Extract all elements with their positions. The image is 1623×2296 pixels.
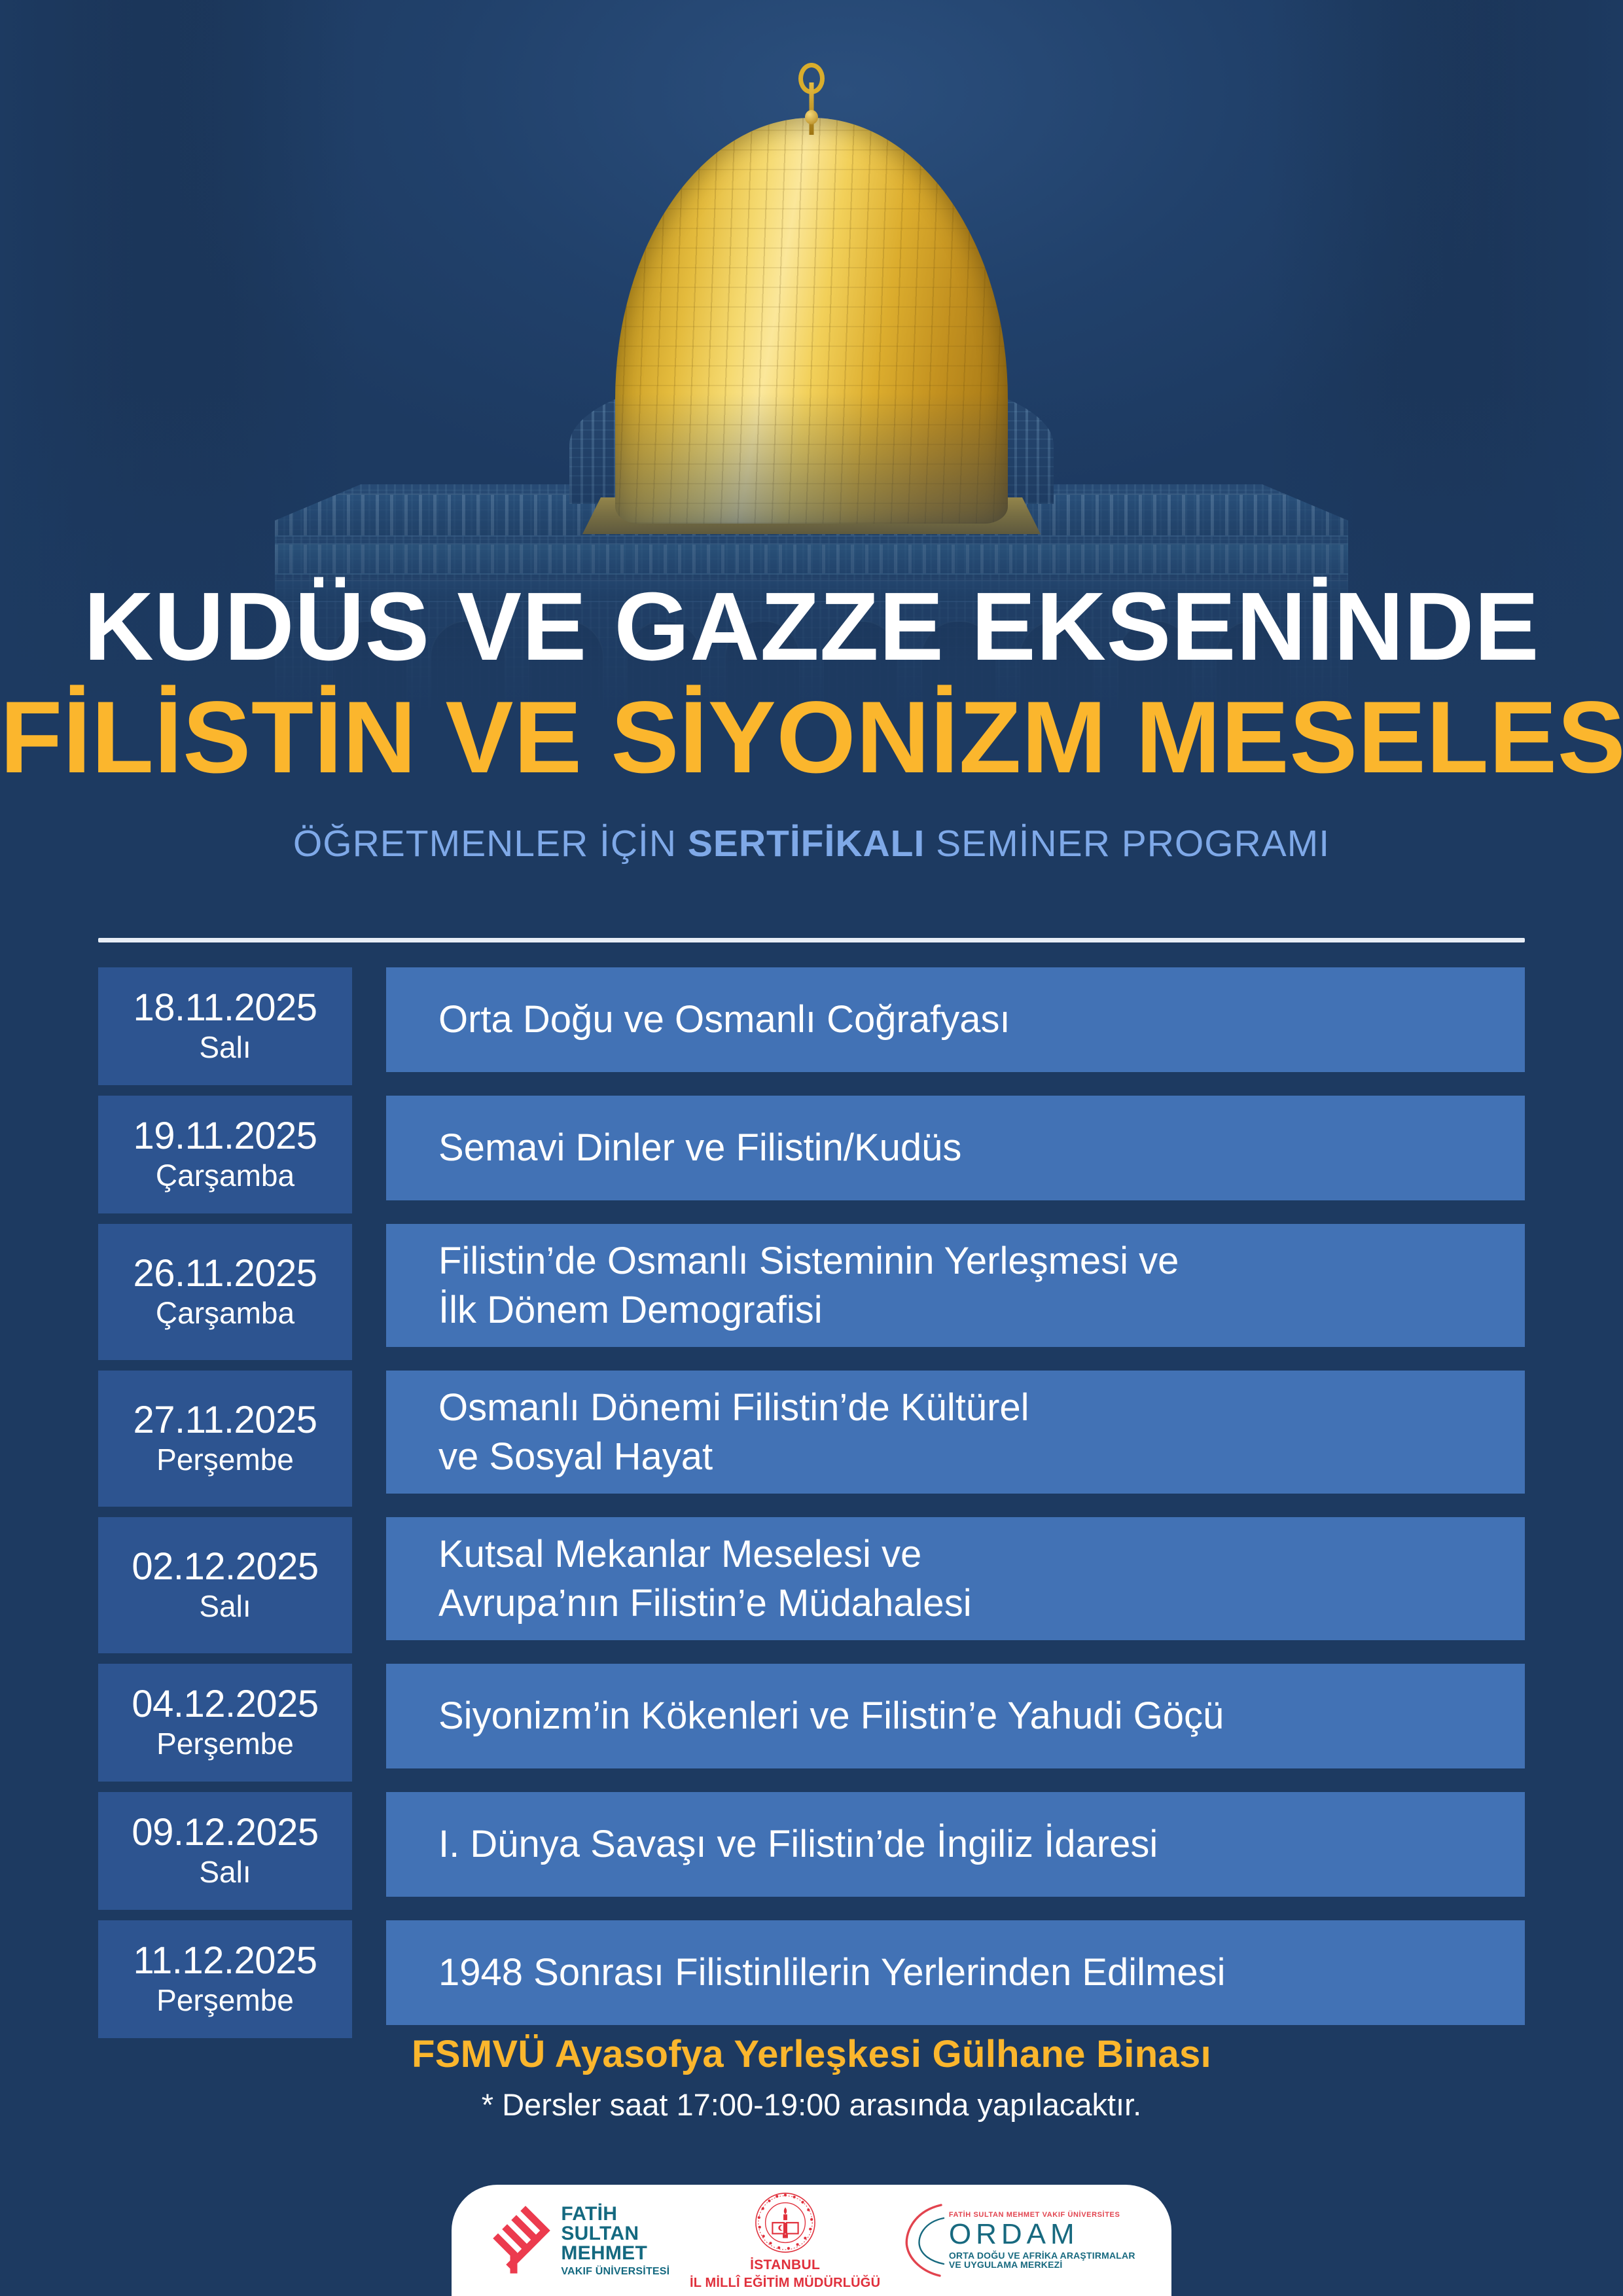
meb-line2: İL MİLLÎ EĞİTİM MÜDÜRLÜĞÜ xyxy=(690,2276,880,2291)
schedule-date-cell: 27.11.2025Perşembe xyxy=(98,1371,352,1507)
schedule-weekday: Çarşamba xyxy=(156,1158,294,1193)
ordam-wordmark: ORDAM xyxy=(949,2220,1079,2249)
fsmvu-line1: FATİH xyxy=(561,2204,669,2224)
schedule-row: 18.11.2025SalıOrta Doğu ve Osmanlı Coğra… xyxy=(98,967,1525,1085)
schedule-row: 27.11.2025PerşembeOsmanlı Dönemi Filisti… xyxy=(98,1371,1525,1507)
schedule-topic: I. Dünya Savaşı ve Filistin’de İngiliz İ… xyxy=(438,1820,1158,1869)
schedule-date: 11.12.2025 xyxy=(134,1940,317,1982)
logo-bar: FATİH SULTAN MEHMET VAKIF ÜNİVERSİTESİ xyxy=(452,2185,1171,2296)
poster-title-line2: FİLİSTİN VE SİYONİZM MESELESİ xyxy=(0,684,1623,792)
seminar-poster: KUDÜS VE GAZZE EKSENİNDE FİLİSTİN VE SİY… xyxy=(0,0,1623,2296)
schedule-date-cell: 09.12.2025Salı xyxy=(98,1792,352,1910)
schedule-date-cell: 18.11.2025Salı xyxy=(98,967,352,1085)
schedule-topic: 1948 Sonrası Filistinlilerin Yerlerinden… xyxy=(438,1948,1226,1997)
schedule-table: 18.11.2025SalıOrta Doğu ve Osmanlı Coğra… xyxy=(98,967,1525,2049)
schedule-weekday: Salı xyxy=(199,1588,251,1624)
ordam-logo-text: FATİH SULTAN MEHMET VAKIF ÜNİVERSİTES OR… xyxy=(949,2212,1135,2269)
schedule-topic: Kutsal Mekanlar Meselesi veAvrupa’nın Fi… xyxy=(438,1530,972,1628)
fsmvu-logo: FATİH SULTAN MEHMET VAKIF ÜNİVERSİTESİ xyxy=(488,2204,669,2277)
schedule-topic: Osmanlı Dönemi Filistin’de Kültürelve So… xyxy=(438,1383,1029,1482)
schedule-weekday: Çarşamba xyxy=(156,1295,294,1331)
schedule-row: 04.12.2025PerşembeSiyonizm’in Kökenleri … xyxy=(98,1664,1525,1782)
schedule-date-cell: 26.11.2025Çarşamba xyxy=(98,1224,352,1360)
schedule-date: 27.11.2025 xyxy=(134,1399,317,1442)
schedule-weekday: Salı xyxy=(199,1854,251,1890)
schedule-date: 02.12.2025 xyxy=(132,1546,318,1588)
schedule-topic: Siyonizm’in Kökenleri ve Filistin’e Yahu… xyxy=(438,1691,1224,1740)
schedule-topic-cell: Osmanlı Dönemi Filistin’de Kültürelve So… xyxy=(386,1371,1525,1494)
schedule-topic-cell: Kutsal Mekanlar Meselesi veAvrupa’nın Fi… xyxy=(386,1517,1525,1640)
subtitle-prefix: ÖĞRETMENLER İÇİN xyxy=(293,823,688,865)
ordam-bottom-line1: ORTA DOĞU VE AFRİKA ARAŞTIRMALAR xyxy=(949,2251,1135,2260)
fsmvu-line2: SULTAN xyxy=(561,2224,669,2244)
ordam-logo: FATİH SULTAN MEHMET VAKIF ÜNİVERSİTES OR… xyxy=(901,2201,1135,2280)
ordam-arc-icon xyxy=(901,2201,946,2280)
schedule-date: 09.12.2025 xyxy=(132,1812,318,1854)
schedule-row: 19.11.2025ÇarşambaSemavi Dinler ve Filis… xyxy=(98,1096,1525,1213)
schedule-topic: Semavi Dinler ve Filistin/Kudüs xyxy=(438,1123,961,1172)
schedule-date: 18.11.2025 xyxy=(134,987,317,1030)
schedule-weekday: Salı xyxy=(199,1030,251,1065)
poster-subtitle: ÖĞRETMENLER İÇİN SERTİFİKALI SEMİNER PRO… xyxy=(0,822,1623,865)
title-block: KUDÜS VE GAZZE EKSENİNDE FİLİSTİN VE SİY… xyxy=(0,576,1623,865)
schedule-topic: Filistin’de Osmanlı Sisteminin Yerleşmes… xyxy=(438,1236,1179,1335)
venue-text: FSMVÜ Ayasofya Yerleşkesi Gülhane Binası xyxy=(0,2032,1623,2076)
fsmvu-logo-text: FATİH SULTAN MEHMET VAKIF ÜNİVERSİTESİ xyxy=(561,2204,669,2277)
schedule-topic: Orta Doğu ve Osmanlı Coğrafyası xyxy=(438,995,1010,1044)
schedule-date-cell: 19.11.2025Çarşamba xyxy=(98,1096,352,1213)
ordam-bottom-line2: VE UYGULAMA MERKEZİ xyxy=(949,2260,1063,2269)
schedule-topic-cell: Semavi Dinler ve Filistin/Kudüs xyxy=(386,1096,1525,1200)
schedule-row: 09.12.2025SalıI. Dünya Savaşı ve Filisti… xyxy=(98,1792,1525,1910)
fsmvu-subline: VAKIF ÜNİVERSİTESİ xyxy=(561,2267,669,2277)
schedule-date: 04.12.2025 xyxy=(132,1683,318,1726)
schedule-weekday: Perşembe xyxy=(156,1442,294,1477)
fsmvu-line3: MEHMET xyxy=(561,2244,669,2263)
fsmvu-mark-icon xyxy=(488,2204,550,2276)
schedule-row: 11.12.2025Perşembe1948 Sonrası Filistinl… xyxy=(98,1920,1525,2038)
subtitle-bold: SERTİFİKALI xyxy=(688,823,925,865)
subtitle-suffix: SEMİNER PROGRAMI xyxy=(925,823,1330,865)
schedule-row: 26.11.2025ÇarşambaFilistin’de Osmanlı Si… xyxy=(98,1224,1525,1360)
schedule-weekday: Perşembe xyxy=(156,1982,294,2018)
schedule-date-cell: 11.12.2025Perşembe xyxy=(98,1920,352,2038)
schedule-date-cell: 02.12.2025Salı xyxy=(98,1517,352,1653)
schedule-topic-cell: Filistin’de Osmanlı Sisteminin Yerleşmes… xyxy=(386,1224,1525,1347)
time-note-text: * Dersler saat 17:00-19:00 arasında yapı… xyxy=(0,2087,1623,2123)
schedule-row: 02.12.2025SalıKutsal Mekanlar Meselesi v… xyxy=(98,1517,1525,1653)
meb-line1: İSTANBUL xyxy=(750,2257,820,2273)
schedule-date-cell: 04.12.2025Perşembe xyxy=(98,1664,352,1782)
schedule-topic-cell: I. Dünya Savaşı ve Filistin’de İngiliz İ… xyxy=(386,1792,1525,1897)
schedule-weekday: Perşembe xyxy=(156,1726,294,1761)
schedule-date: 26.11.2025 xyxy=(134,1253,317,1295)
schedule-topic-cell: Siyonizm’in Kökenleri ve Filistin’e Yahu… xyxy=(386,1664,1525,1768)
schedule-topic-cell: 1948 Sonrası Filistinlilerin Yerlerinden… xyxy=(386,1920,1525,2025)
poster-title-line1: KUDÜS VE GAZZE EKSENİNDE xyxy=(0,576,1623,679)
schedule-topic-cell: Orta Doğu ve Osmanlı Coğrafyası xyxy=(386,967,1525,1072)
header-divider xyxy=(98,938,1525,942)
meb-seal-icon xyxy=(753,2191,817,2255)
meb-logo: İSTANBUL İL MİLLÎ EĞİTİM MÜDÜRLÜĞÜ xyxy=(690,2191,880,2291)
schedule-date: 19.11.2025 xyxy=(134,1115,317,1158)
